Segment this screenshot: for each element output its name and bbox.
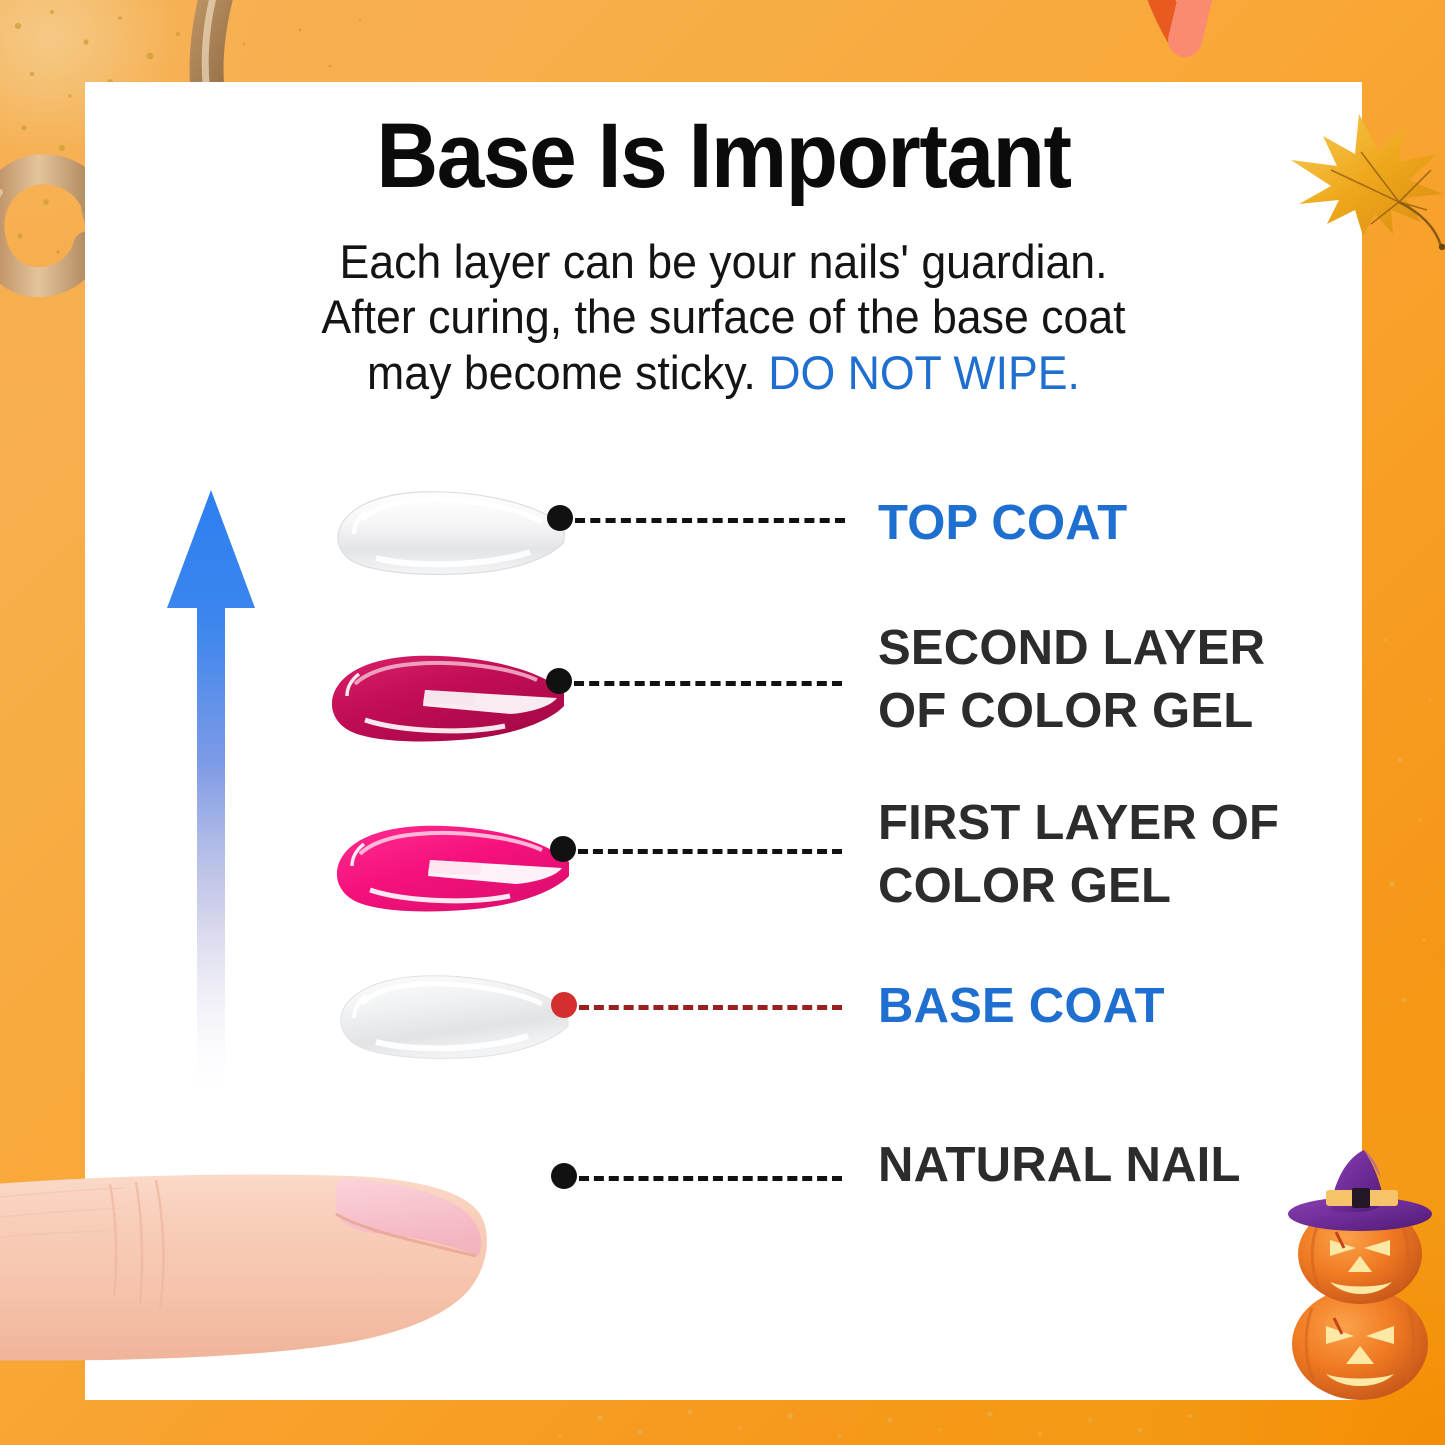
leader-line-second-color-gel <box>574 681 842 686</box>
label-first-color-gel: FIRST LAYER OF COLOR GEL <box>878 792 1308 917</box>
label-second-color-gel: SECOND LAYER OF COLOR GEL <box>878 617 1308 742</box>
leader-dot-second-color-gel <box>546 668 572 694</box>
label-top-coat: TOP COAT <box>878 492 1127 555</box>
leader-line-first-color-gel <box>578 849 842 854</box>
leader-dot-natural-nail <box>551 1163 577 1189</box>
leader-line-top-coat <box>575 518 845 523</box>
label-base-coat: BASE COAT <box>878 975 1165 1038</box>
subtitle-line-1: Each layer can be your nails' guardian. <box>117 234 1330 289</box>
nail-base-coat-icon <box>332 970 572 1065</box>
poster-canvas: Base Is Important Each layer can be your… <box>0 0 1445 1445</box>
leader-line-base-coat <box>579 1005 842 1010</box>
page-subtitle: Each layer can be your nails' guardian. … <box>117 234 1330 400</box>
nail-first-color-gel-icon <box>330 818 573 916</box>
do-not-wipe-warning: DO NOT WIPE. <box>768 346 1080 399</box>
nail-second-color-gel-icon <box>325 648 568 746</box>
page-title: Base Is Important <box>130 108 1318 205</box>
nail-top-coat-icon <box>328 486 568 581</box>
leader-dot-top-coat <box>547 505 573 531</box>
finger-with-natural-nail-icon <box>0 1132 550 1392</box>
label-natural-nail: NATURAL NAIL <box>878 1134 1241 1197</box>
subtitle-line-2: After curing, the surface of the base co… <box>117 289 1330 344</box>
subtitle-line-3-plain: may become sticky. <box>367 346 756 399</box>
leader-dot-base-coat <box>551 992 577 1018</box>
leader-dot-first-color-gel <box>550 836 576 862</box>
build-up-direction-arrow-icon <box>163 486 259 1100</box>
leader-line-natural-nail <box>579 1176 842 1181</box>
subtitle-line-3: may become sticky. DO NOT WIPE. <box>117 345 1330 400</box>
